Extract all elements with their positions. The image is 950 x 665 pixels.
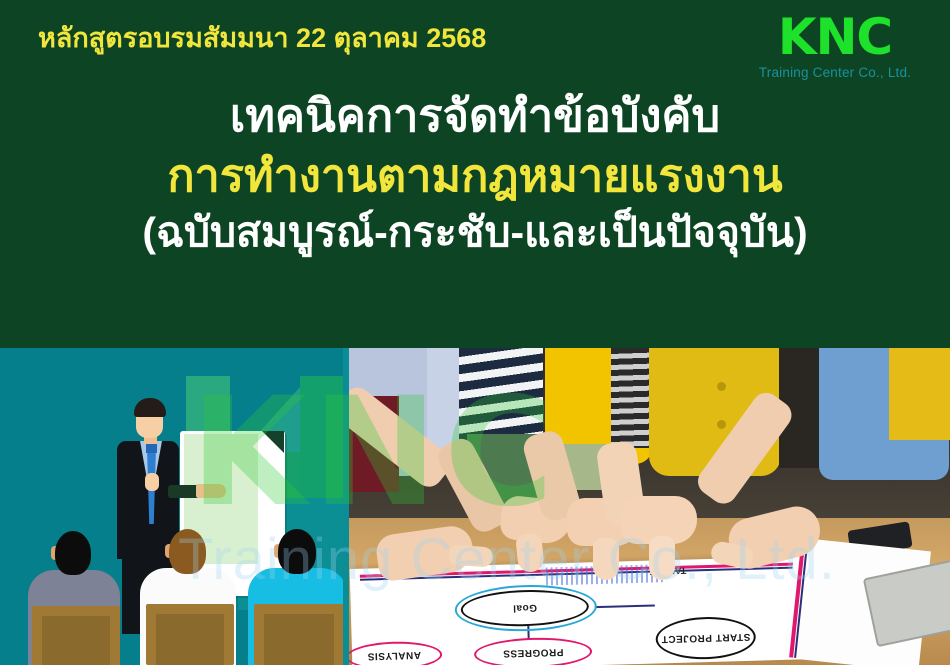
presenter-arm-left — [122, 476, 136, 532]
poster-title-block: เทคนิคการจัดทำข้อบังคับ การทำงานตามกฎหมา… — [0, 92, 950, 254]
seminar-poster: หลักสูตรอบรมสัมมนา 22 ตุลาคม 2568 KNC Tr… — [0, 0, 950, 665]
title-line-1: เทคนิคการจัดทำข้อบังคับ — [0, 92, 950, 139]
attendee-1-head — [55, 531, 91, 575]
attendee-1-chair-inner — [42, 616, 110, 665]
training-illustration-panel — [0, 348, 349, 665]
attendee-3-chair-inner — [264, 614, 334, 665]
teamwork-photo-panel: Goal PROGRESS START PROJECT ANALYSIS TAR… — [349, 348, 950, 665]
attendee-3-head — [278, 529, 316, 574]
mindmap-bubble-start-project: START PROJECT — [655, 616, 756, 661]
knc-logo-subtitle: Training Center Co., Ltd. — [748, 66, 922, 80]
attendee-2-head — [169, 529, 206, 574]
presenter-hand-left — [145, 473, 159, 491]
mindmap-connector-2 — [595, 604, 655, 608]
knc-logo-mark: KNC — [748, 14, 922, 62]
hand-4-finger — [649, 536, 675, 580]
hand-1-finger — [448, 544, 493, 567]
jacket-button-1 — [717, 382, 726, 391]
presenter-hair — [134, 398, 166, 417]
knc-logo: KNC Training Center Co., Ltd. — [748, 14, 922, 79]
presenter-tie-knot — [146, 444, 157, 453]
course-date-label: หลักสูตรอบรมสัมมนา 22 ตุลาคม 2568 — [38, 22, 486, 56]
poster-image-strip: Goal PROGRESS START PROJECT ANALYSIS TAR… — [0, 348, 950, 665]
jacket-button-2 — [717, 420, 726, 429]
mindmap-bubble-analysis: ANALYSIS — [349, 640, 442, 665]
title-line-3: (ฉบับสมบูรณ์-กระชับ-และเป็นปัจจุบัน) — [0, 211, 950, 254]
poster-header: หลักสูตรอบรมสัมมนา 22 ตุลาคม 2568 KNC Tr… — [0, 0, 950, 348]
hand-2-finger — [515, 533, 545, 574]
title-line-2: การทำงานตามกฎหมายแรงงาน — [0, 152, 950, 199]
presenter-hand — [196, 484, 226, 498]
attendee-2-chair-inner — [156, 614, 224, 665]
hand-3-finger — [593, 538, 619, 580]
person-7-inner-yellow — [889, 348, 950, 440]
mindmap-bubble-progress: PROGRESS — [474, 636, 593, 665]
